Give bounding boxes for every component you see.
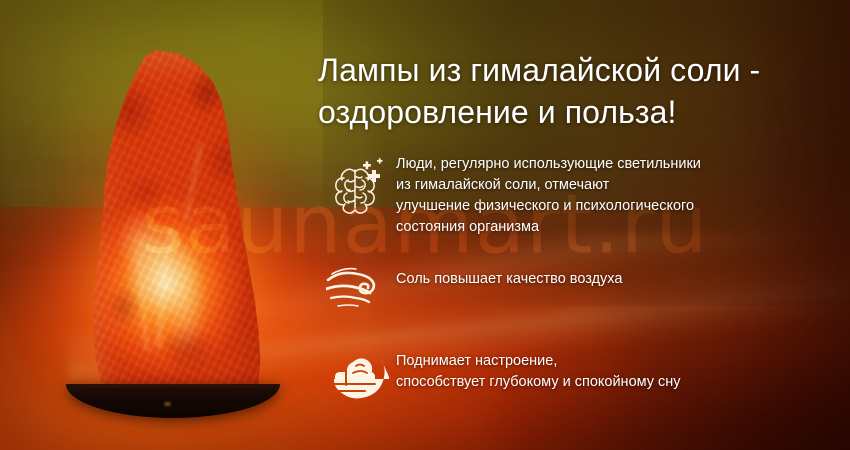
wind-icon bbox=[322, 255, 396, 321]
benefit-text-wellbeing: Люди, регулярно использующие светильники… bbox=[396, 152, 834, 239]
benefit-line: Люди, регулярно использующие светильники bbox=[396, 154, 834, 175]
benefit-line: способствует глубокому и спокойному сну bbox=[396, 372, 834, 393]
headline-line-2: оздоровление и польза! bbox=[318, 92, 838, 134]
brain-icon bbox=[322, 152, 396, 234]
benefit-line: состояния организма bbox=[396, 217, 834, 238]
lamp-facet-highlight bbox=[155, 228, 175, 348]
benefit-line: из гималайской соли, отмечают bbox=[396, 175, 834, 196]
lamp-facet-highlight bbox=[137, 256, 150, 352]
headline-line-1: Лампы из гималайской соли - bbox=[318, 50, 838, 92]
benefit-line: улучшение физического и психологического bbox=[396, 196, 834, 217]
sleeping-person-icon bbox=[322, 343, 396, 411]
benefit-text-sleep: Поднимает настроение, способствует глубо… bbox=[396, 343, 834, 393]
benefit-item-air-quality: Соль повышает качество воздуха bbox=[322, 255, 834, 321]
benefit-item-wellbeing: Люди, регулярно использующие светильники… bbox=[322, 152, 834, 239]
benefit-line: Поднимает настроение, bbox=[396, 351, 834, 372]
lamp-base-glint bbox=[164, 402, 171, 406]
benefit-item-sleep: Поднимает настроение, способствует глубо… bbox=[322, 343, 834, 411]
benefit-text-air-quality: Соль повышает качество воздуха bbox=[396, 255, 834, 290]
benefit-line: Соль повышает качество воздуха bbox=[396, 269, 834, 290]
salt-lamp-promo-banner: saunamart.ru Лампы из гималайской соли -… bbox=[0, 0, 850, 450]
salt-lamp-image bbox=[60, 44, 290, 424]
lamp-facet-highlight bbox=[185, 143, 204, 220]
benefits-list: Люди, регулярно использующие светильники… bbox=[322, 152, 834, 425]
banner-headline: Лампы из гималайской соли - оздоровление… bbox=[318, 50, 838, 133]
